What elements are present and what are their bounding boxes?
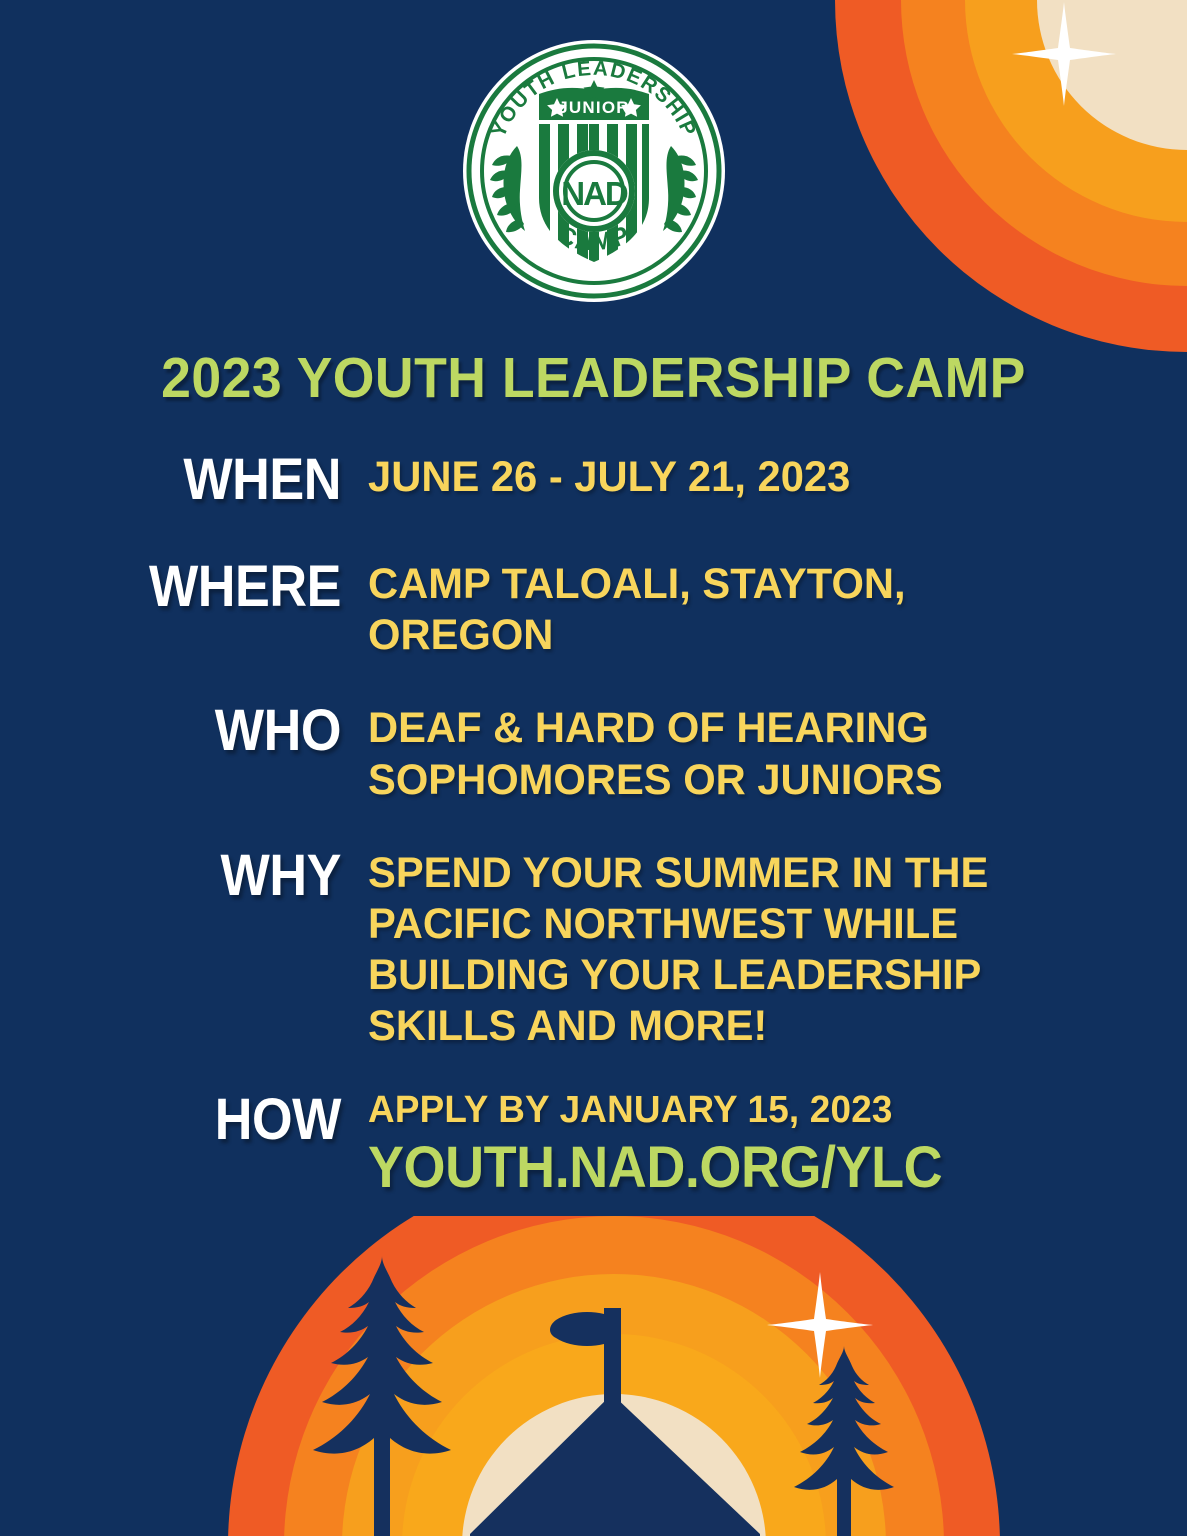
logo-container: YOUTH LEADERSHIP CAMP: [0, 38, 1187, 304]
info-label-who: WHO: [37, 703, 368, 758]
info-value-line: CAMP TALOALI, STAYTON,: [368, 559, 1008, 610]
info-value-how: APPLY BY JANUARY 15, 2023 YOUTH.NAD.ORG/…: [368, 1090, 1047, 1201]
pine-tree-left-silhouette: [313, 1256, 451, 1536]
info-label-where: WHERE: [37, 559, 368, 614]
tent-cabin-silhouette: [470, 1308, 760, 1536]
info-row-who: WHO DEAF & HARD OF HEARING SOPHOMORES OR…: [0, 703, 1187, 805]
info-value-why: SPEND YOUR SUMMER IN THE PACIFIC NORTHWE…: [368, 848, 1008, 1053]
info-label-how: HOW: [37, 1092, 368, 1147]
bottom-scene-decoration: [0, 1216, 1187, 1536]
info-row-how: HOW APPLY BY JANUARY 15, 2023 YOUTH.NAD.…: [0, 1090, 1187, 1201]
info-label-when: WHEN: [37, 452, 368, 507]
info-value-when: JUNE 26 - JULY 21, 2023: [368, 452, 1008, 503]
info-value-who: DEAF & HARD OF HEARING SOPHOMORES OR JUN…: [368, 703, 1008, 805]
info-value-line: BUILDING YOUR LEADERSHIP: [368, 950, 1008, 1001]
youth-leadership-camp-seal-icon: YOUTH LEADERSHIP CAMP: [461, 38, 727, 304]
flag-pole: [604, 1308, 621, 1428]
info-list: WHEN JUNE 26 - JULY 21, 2023 WHERE CAMP …: [0, 452, 1187, 1239]
apply-deadline-text: APPLY BY JANUARY 15, 2023: [368, 1090, 1047, 1132]
scene-ring-orange: [284, 1216, 944, 1536]
info-value-where: CAMP TALOALI, STAYTON, OREGON: [368, 559, 1008, 661]
info-row-why: WHY SPEND YOUR SUMMER IN THE PACIFIC NOR…: [0, 848, 1187, 1053]
nad-monogram-text: NAD: [561, 175, 628, 212]
scene-ring-red-orange: [228, 1216, 1000, 1536]
info-value-line: OREGON: [368, 610, 1008, 661]
page-title: 2023 YOUTH LEADERSHIP CAMP: [36, 345, 1152, 411]
info-value-line: SOPHOMORES OR JUNIORS: [368, 755, 1008, 806]
info-value-line: JUNE 26 - JULY 21, 2023: [368, 452, 1008, 503]
sparkle-bottom-right-icon: [767, 1272, 873, 1378]
info-row-where: WHERE CAMP TALOALI, STAYTON, OREGON: [0, 559, 1187, 661]
svg-text:JUNIOR: JUNIOR: [558, 98, 629, 117]
scene-ring-amber: [402, 1334, 826, 1536]
apply-url-link[interactable]: YOUTH.NAD.ORG/YLC: [368, 1136, 1020, 1201]
scene-ring-cream: [462, 1394, 766, 1536]
scene-ring-golden: [342, 1274, 886, 1536]
info-value-line: SKILLS AND MORE!: [368, 1001, 1008, 1052]
info-label-why: WHY: [37, 848, 368, 903]
poster-canvas: YOUTH LEADERSHIP CAMP: [0, 0, 1187, 1536]
flag-pennant: [550, 1312, 604, 1346]
info-value-line: DEAF & HARD OF HEARING: [368, 703, 1008, 754]
info-value-line: PACIFIC NORTHWEST WHILE: [368, 899, 1008, 950]
info-row-when: WHEN JUNE 26 - JULY 21, 2023: [0, 452, 1187, 507]
pine-tree-right-silhouette: [794, 1346, 894, 1536]
info-value-line: SPEND YOUR SUMMER IN THE: [368, 848, 1008, 899]
